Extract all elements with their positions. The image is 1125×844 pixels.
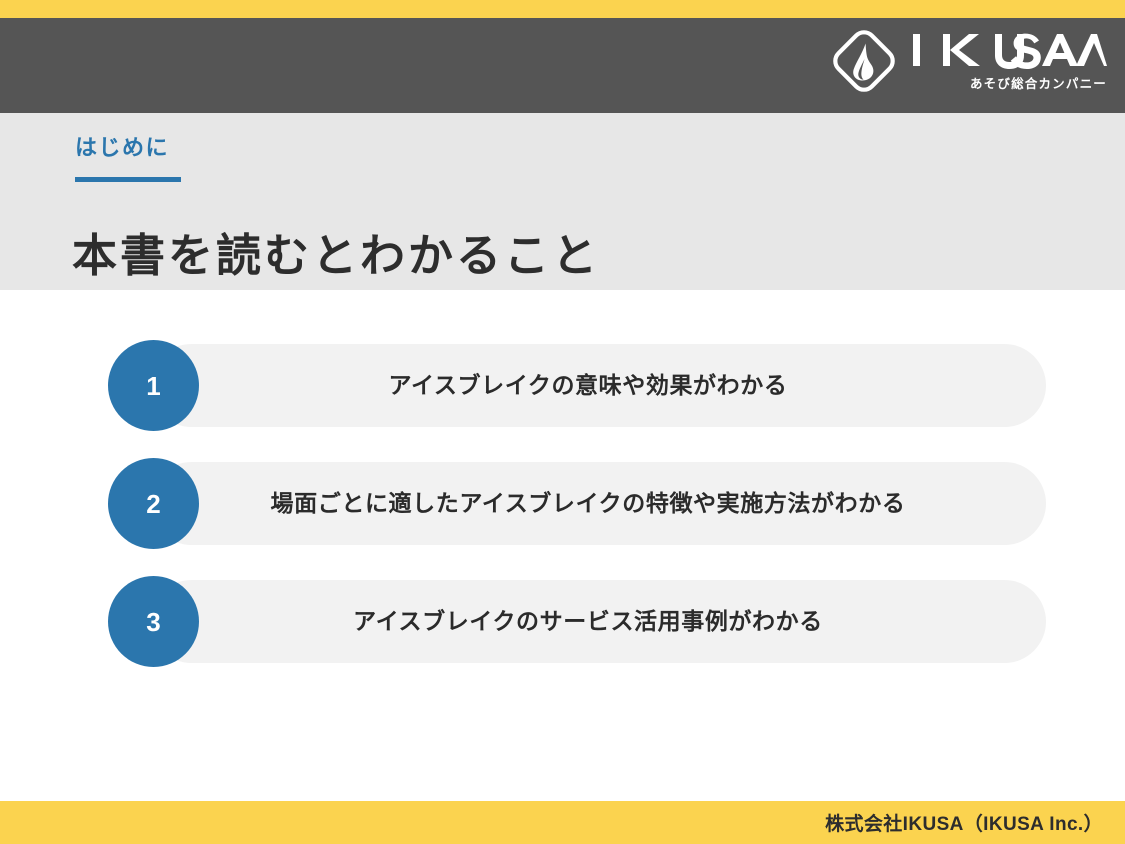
list-item-pill: アイスブレイクのサービス活用事例がわかる — [150, 580, 1046, 663]
list-item-number: 3 — [146, 609, 160, 635]
benefits-list: アイスブレイクの意味や効果がわかる 1 場面ごとに適したアイスブレイクの特徴や実… — [0, 340, 1125, 694]
ikusa-diamond-flame-icon — [831, 28, 897, 94]
footer-company-name: 株式会社IKUSA（IKUSA Inc.） — [825, 809, 1125, 836]
ikusa-wordmark-icon — [911, 30, 1107, 70]
header-band: あそび総合カンパニー — [0, 18, 1125, 113]
page-title: 本書を読むとわかること — [72, 229, 600, 283]
logo-tagline: あそび総合カンパニー — [970, 73, 1107, 92]
list-item-number-badge: 1 — [108, 340, 199, 431]
logo-wordmark — [911, 29, 1107, 71]
top-accent-bar — [0, 0, 1125, 18]
list-item-pill: 場面ごとに適したアイスブレイクの特徴や実施方法がわかる — [150, 462, 1046, 545]
footer-band: 株式会社IKUSA（IKUSA Inc.） — [0, 801, 1125, 844]
list-item: 場面ごとに適したアイスブレイクの特徴や実施方法がわかる 2 — [0, 458, 1125, 549]
list-item-number-badge: 3 — [108, 576, 199, 667]
list-item-label: 場面ごとに適したアイスブレイクの特徴や実施方法がわかる — [231, 489, 946, 519]
list-item-number: 2 — [146, 491, 160, 517]
list-item-label: アイスブレイクのサービス活用事例がわかる — [313, 607, 863, 637]
list-item-number: 1 — [146, 373, 160, 399]
list-item-label: アイスブレイクの意味や効果がわかる — [349, 371, 828, 401]
eyebrow-underline — [75, 177, 181, 182]
list-item: アイスブレイクのサービス活用事例がわかる 3 — [0, 576, 1125, 667]
logo-text-block: あそび総合カンパニー — [911, 29, 1107, 94]
title-section: はじめに 本書を読むとわかること — [0, 113, 1125, 290]
list-item-pill: アイスブレイクの意味や効果がわかる — [150, 344, 1046, 427]
list-item-number-badge: 2 — [108, 458, 199, 549]
slide: あそび総合カンパニー はじめに 本書を読むとわかること アイスブレイクの意味や効… — [0, 0, 1125, 844]
ikusa-logo: あそび総合カンパニー — [831, 28, 1107, 94]
eyebrow-label: はじめに — [75, 137, 169, 159]
list-item: アイスブレイクの意味や効果がわかる 1 — [0, 340, 1125, 431]
